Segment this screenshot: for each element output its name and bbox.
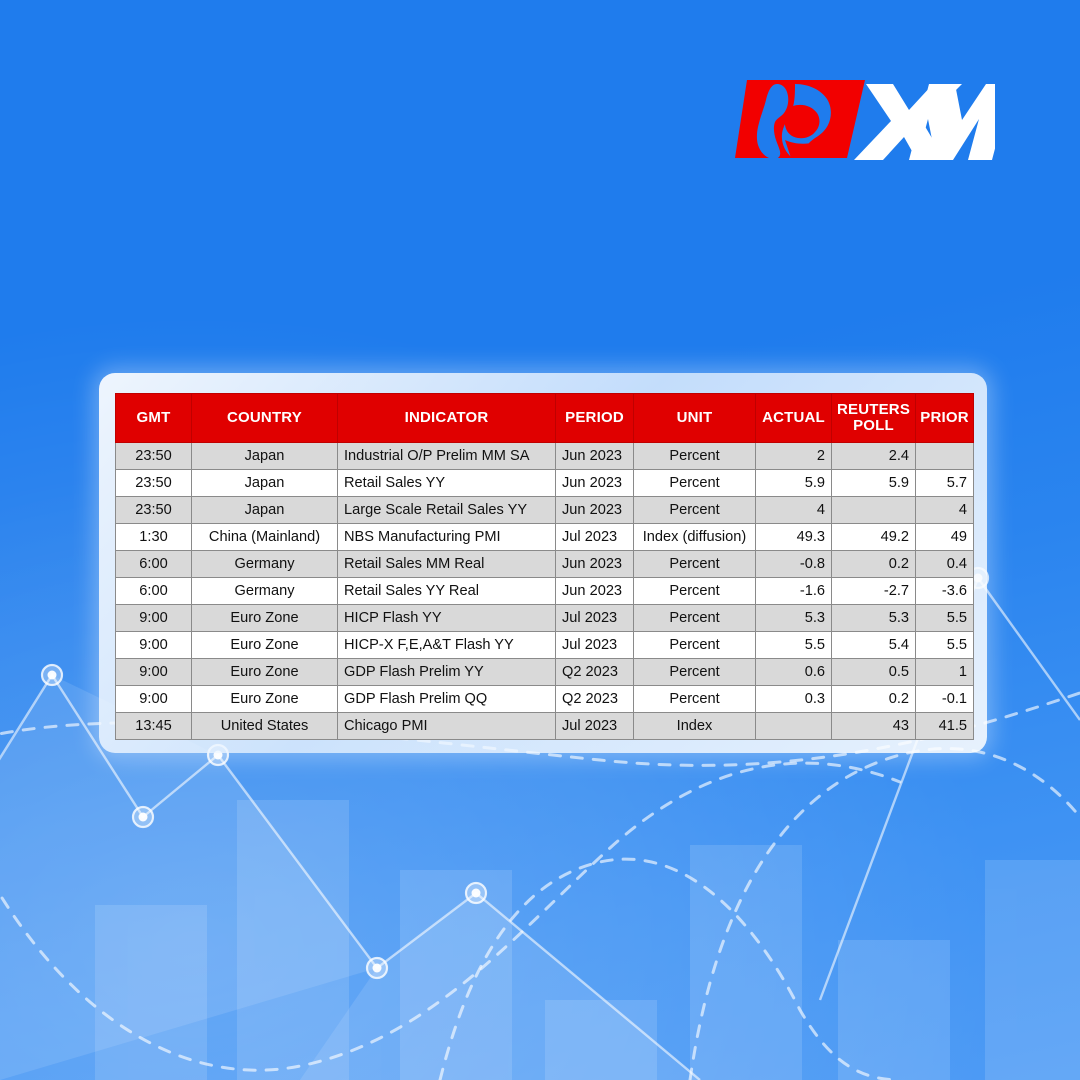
cell-unit: Percent — [634, 497, 756, 524]
table-header-row: GMT COUNTRY INDICATOR PERIOD UNIT ACTUAL… — [116, 394, 974, 443]
cell-poll: 5.4 — [832, 632, 916, 659]
cell-poll — [832, 497, 916, 524]
cell-indicator: HICP-X F,E,A&T Flash YY — [338, 632, 556, 659]
table-row[interactable]: 1:30China (Mainland)NBS Manufacturing PM… — [116, 524, 974, 551]
cell-prior: -0.1 — [916, 686, 974, 713]
table-row[interactable]: 23:50JapanLarge Scale Retail Sales YYJun… — [116, 497, 974, 524]
column-header-gmt[interactable]: GMT — [116, 394, 192, 443]
cell-prior: 49 — [916, 524, 974, 551]
cell-poll: 5.3 — [832, 605, 916, 632]
xm-logo — [733, 78, 995, 160]
cell-country: Japan — [192, 497, 338, 524]
cell-poll: 43 — [832, 713, 916, 740]
cell-gmt: 23:50 — [116, 470, 192, 497]
cell-actual: 0.6 — [756, 659, 832, 686]
cell-indicator: GDP Flash Prelim QQ — [338, 686, 556, 713]
column-header-period[interactable]: PERIOD — [556, 394, 634, 443]
cell-period: Jul 2023 — [556, 713, 634, 740]
cell-unit: Percent — [634, 443, 756, 470]
cell-poll: 0.5 — [832, 659, 916, 686]
cell-actual: 4 — [756, 497, 832, 524]
column-header-reuters-poll[interactable]: REUTERS POLL — [832, 394, 916, 443]
cell-prior: 41.5 — [916, 713, 974, 740]
cell-period: Jul 2023 — [556, 524, 634, 551]
table-header: GMT COUNTRY INDICATOR PERIOD UNIT ACTUAL… — [116, 394, 974, 443]
column-header-indicator[interactable]: INDICATOR — [338, 394, 556, 443]
table-row[interactable]: 6:00GermanyRetail Sales YY RealJun 2023P… — [116, 578, 974, 605]
cell-indicator: NBS Manufacturing PMI — [338, 524, 556, 551]
cell-indicator: GDP Flash Prelim YY — [338, 659, 556, 686]
xm-wordmark — [854, 84, 995, 160]
cell-gmt: 6:00 — [116, 551, 192, 578]
column-header-unit[interactable]: UNIT — [634, 394, 756, 443]
cell-gmt: 9:00 — [116, 686, 192, 713]
cell-actual: 2 — [756, 443, 832, 470]
cell-prior — [916, 443, 974, 470]
bull-head-icon — [735, 80, 865, 160]
cell-poll: -2.7 — [832, 578, 916, 605]
column-header-country[interactable]: COUNTRY — [192, 394, 338, 443]
cell-unit: Percent — [634, 632, 756, 659]
cell-unit: Percent — [634, 578, 756, 605]
table-row[interactable]: 13:45United StatesChicago PMIJul 2023Ind… — [116, 713, 974, 740]
cell-indicator: Retail Sales YY Real — [338, 578, 556, 605]
cell-country: Germany — [192, 578, 338, 605]
cell-actual: 5.5 — [756, 632, 832, 659]
cell-indicator: Retail Sales YY — [338, 470, 556, 497]
cell-poll: 2.4 — [832, 443, 916, 470]
cell-country: China (Mainland) — [192, 524, 338, 551]
cell-country: Euro Zone — [192, 632, 338, 659]
cell-period: Jun 2023 — [556, 443, 634, 470]
cell-period: Jun 2023 — [556, 470, 634, 497]
cell-period: Q2 2023 — [556, 659, 634, 686]
cell-country: United States — [192, 713, 338, 740]
cell-actual: 5.3 — [756, 605, 832, 632]
table-row[interactable]: 6:00GermanyRetail Sales MM RealJun 2023P… — [116, 551, 974, 578]
cell-gmt: 9:00 — [116, 605, 192, 632]
cell-unit: Percent — [634, 686, 756, 713]
cell-poll: 0.2 — [832, 686, 916, 713]
cell-prior: 4 — [916, 497, 974, 524]
cell-prior: -3.6 — [916, 578, 974, 605]
cell-unit: Percent — [634, 551, 756, 578]
cell-gmt: 6:00 — [116, 578, 192, 605]
cell-prior: 5.5 — [916, 605, 974, 632]
cell-prior: 5.7 — [916, 470, 974, 497]
cell-period: Jul 2023 — [556, 632, 634, 659]
column-header-prior[interactable]: PRIOR — [916, 394, 974, 443]
cell-unit: Index — [634, 713, 756, 740]
cell-indicator: Chicago PMI — [338, 713, 556, 740]
cell-period: Jun 2023 — [556, 497, 634, 524]
cell-unit: Percent — [634, 659, 756, 686]
table-row[interactable]: 9:00Euro ZoneGDP Flash Prelim QQQ2 2023P… — [116, 686, 974, 713]
cell-indicator: Large Scale Retail Sales YY — [338, 497, 556, 524]
cell-gmt: 23:50 — [116, 497, 192, 524]
cell-country: Euro Zone — [192, 686, 338, 713]
xm-logo-svg — [733, 78, 995, 160]
cell-gmt: 23:50 — [116, 443, 192, 470]
table-row[interactable]: 9:00Euro ZoneHICP Flash YYJul 2023Percen… — [116, 605, 974, 632]
cell-period: Jun 2023 — [556, 551, 634, 578]
cell-period: Q2 2023 — [556, 686, 634, 713]
table-row[interactable]: 23:50JapanRetail Sales YYJun 2023Percent… — [116, 470, 974, 497]
cell-gmt: 9:00 — [116, 632, 192, 659]
table-row[interactable]: 23:50JapanIndustrial O/P Prelim MM SAJun… — [116, 443, 974, 470]
column-header-actual[interactable]: ACTUAL — [756, 394, 832, 443]
cell-country: Japan — [192, 443, 338, 470]
cell-poll: 49.2 — [832, 524, 916, 551]
table-row[interactable]: 9:00Euro ZoneGDP Flash Prelim YYQ2 2023P… — [116, 659, 974, 686]
cell-poll: 0.2 — [832, 551, 916, 578]
cell-actual — [756, 713, 832, 740]
cell-country: Japan — [192, 470, 338, 497]
cell-country: Euro Zone — [192, 659, 338, 686]
cell-unit: Percent — [634, 605, 756, 632]
cell-period: Jun 2023 — [556, 578, 634, 605]
cell-actual: 5.9 — [756, 470, 832, 497]
cell-indicator: Industrial O/P Prelim MM SA — [338, 443, 556, 470]
cell-prior: 1 — [916, 659, 974, 686]
economic-calendar-card: GMT COUNTRY INDICATOR PERIOD UNIT ACTUAL… — [99, 373, 987, 753]
cell-gmt: 13:45 — [116, 713, 192, 740]
cell-country: Germany — [192, 551, 338, 578]
cell-period: Jul 2023 — [556, 605, 634, 632]
cell-indicator: HICP Flash YY — [338, 605, 556, 632]
cell-unit: Index (diffusion) — [634, 524, 756, 551]
cell-actual: 0.3 — [756, 686, 832, 713]
cell-actual: 49.3 — [756, 524, 832, 551]
cell-poll: 5.9 — [832, 470, 916, 497]
cell-actual: -1.6 — [756, 578, 832, 605]
cell-gmt: 1:30 — [116, 524, 192, 551]
cell-indicator: Retail Sales MM Real — [338, 551, 556, 578]
cell-country: Euro Zone — [192, 605, 338, 632]
economic-calendar-table: GMT COUNTRY INDICATOR PERIOD UNIT ACTUAL… — [115, 393, 974, 740]
cell-prior: 0.4 — [916, 551, 974, 578]
table-row[interactable]: 9:00Euro ZoneHICP-X F,E,A&T Flash YYJul … — [116, 632, 974, 659]
cell-unit: Percent — [634, 470, 756, 497]
cell-prior: 5.5 — [916, 632, 974, 659]
table-body: 23:50JapanIndustrial O/P Prelim MM SAJun… — [116, 443, 974, 740]
cell-gmt: 9:00 — [116, 659, 192, 686]
cell-actual: -0.8 — [756, 551, 832, 578]
